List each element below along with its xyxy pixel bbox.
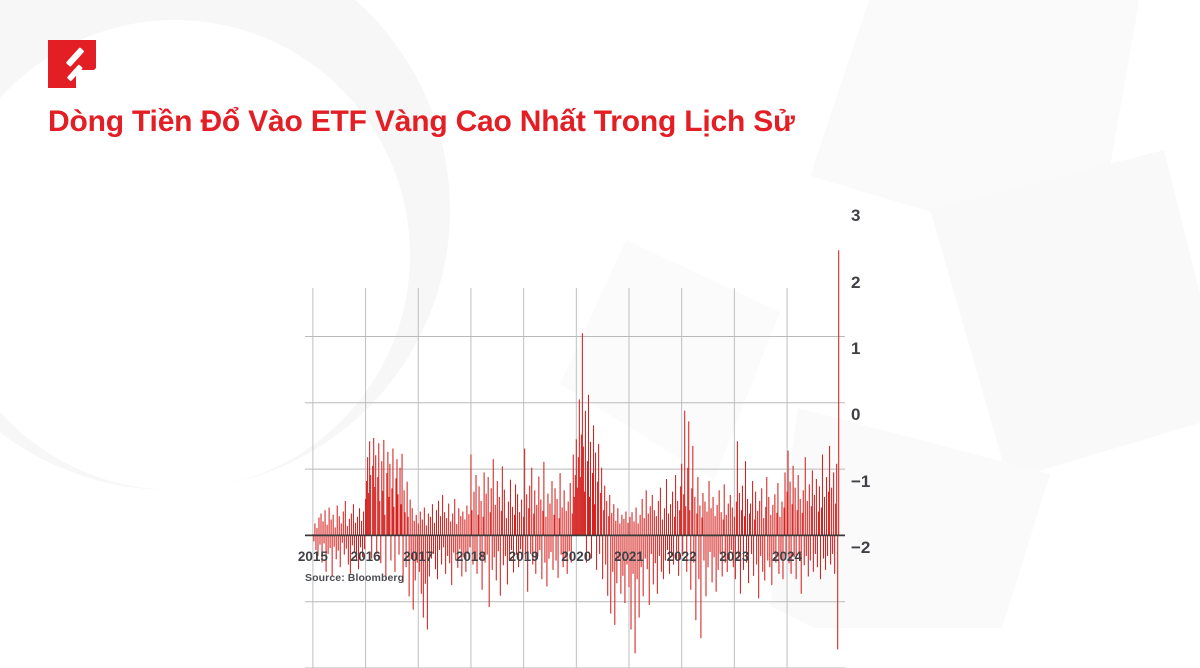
chart-bar <box>501 511 502 536</box>
chart-bar <box>564 490 565 535</box>
chart-bar <box>675 475 676 535</box>
chart-bar <box>646 490 647 535</box>
chart-bar <box>506 518 507 535</box>
chart-bar <box>819 486 820 535</box>
chart-bar <box>545 517 546 536</box>
chart-bar <box>670 504 671 535</box>
chart-bar <box>611 513 612 536</box>
chart-bar <box>741 510 742 535</box>
chart-bar <box>551 481 552 535</box>
chart-bar <box>824 497 825 535</box>
chart-bar <box>543 462 544 536</box>
chart-bar <box>364 535 365 549</box>
chart-bar <box>318 517 319 535</box>
chart-bar <box>777 483 778 535</box>
x-axis-tick-label: 2019 <box>509 549 539 564</box>
chart-bar <box>346 535 347 548</box>
chart-bar <box>379 501 380 535</box>
chart-bar <box>600 493 601 535</box>
chart-bar <box>391 488 392 535</box>
y-axis-tick-label: 3 <box>851 206 860 226</box>
chart-bar <box>627 523 628 536</box>
chart-bar <box>331 519 332 535</box>
chart-bar <box>458 508 459 535</box>
chart-bar <box>432 504 433 535</box>
chart-bar <box>439 535 440 550</box>
chart-bar <box>776 513 777 536</box>
chart-bar <box>542 511 543 536</box>
chart-bar <box>592 473 593 535</box>
chart-bar <box>598 444 599 536</box>
chart-bar <box>575 475 576 535</box>
chart-bar <box>822 454 823 535</box>
chart-bar <box>584 492 585 536</box>
chart-bar <box>330 535 331 548</box>
chart-bar <box>402 454 403 536</box>
chart-bar <box>470 454 471 535</box>
chart-bar <box>523 517 524 536</box>
chart-bar <box>490 512 491 535</box>
chart-bar <box>534 490 535 535</box>
chart-bar <box>448 504 449 536</box>
chart-bar <box>386 473 387 535</box>
chart-bar <box>811 506 812 535</box>
chart-bar <box>803 490 804 535</box>
chart-bar <box>372 466 373 536</box>
chart-bar <box>414 521 415 536</box>
chart-bar <box>337 506 338 536</box>
chart-bar <box>734 517 735 536</box>
chart-bar <box>632 512 633 535</box>
chart-bar <box>589 497 590 535</box>
chart-bar <box>443 535 444 547</box>
chart-bar <box>719 490 720 535</box>
chart-plot-area <box>305 180 845 548</box>
chart-bar <box>684 411 685 536</box>
chart-bar <box>765 507 766 536</box>
chart-bar <box>679 510 680 535</box>
chart-bar <box>383 440 384 535</box>
chart-bar <box>667 535 668 550</box>
chart-bar <box>323 521 324 535</box>
chart-bar <box>578 457 579 535</box>
chart-bar <box>420 512 421 536</box>
chart-bar <box>770 515 771 536</box>
chart-bar <box>426 525 427 535</box>
chart-bar <box>724 484 725 535</box>
chart-bar <box>519 512 520 535</box>
chart-bar <box>341 523 342 535</box>
chart-bar <box>783 508 784 536</box>
chart-bar <box>826 477 827 535</box>
chart-bar <box>687 468 688 536</box>
chart-bar <box>514 515 515 536</box>
chart-bar <box>787 492 788 536</box>
y-axis-tick-label: 1 <box>851 339 860 359</box>
chart-bar <box>594 504 595 535</box>
chart-bar <box>604 486 605 536</box>
chart-bar <box>452 514 453 536</box>
chart-bar <box>816 479 817 535</box>
chart-bar <box>582 333 583 535</box>
chart-bar <box>784 472 785 535</box>
chart-bar <box>423 535 424 617</box>
chart-bar <box>366 481 367 535</box>
chart-bar <box>512 507 513 536</box>
chart-bar <box>809 484 810 535</box>
chart-bar <box>491 488 492 535</box>
chart-bar <box>802 513 803 536</box>
chart-bar <box>688 421 689 535</box>
chart-bar <box>685 506 686 535</box>
chart-bar <box>471 510 472 535</box>
chart-bar <box>401 504 402 535</box>
chart-bar <box>781 502 782 536</box>
chart-bar <box>761 488 762 535</box>
chart-bar <box>728 504 729 536</box>
chart-bar <box>459 535 460 549</box>
chart-source-note: Source: Bloomberg <box>305 572 404 584</box>
chart-bar <box>717 505 718 536</box>
chart-bar <box>798 475 799 535</box>
chart-bar <box>343 512 344 536</box>
chart-bar <box>369 441 370 535</box>
chart-bar <box>508 502 509 536</box>
chart-bar <box>488 477 489 535</box>
chart-bar <box>389 464 390 536</box>
chart-bar <box>466 506 467 536</box>
chart-bar <box>393 507 394 536</box>
x-axis-labels: 2015201620172018201920202021202220232024 <box>280 549 880 571</box>
chart-bar <box>549 504 550 536</box>
chart-bar <box>792 504 793 535</box>
chart-bar <box>553 515 554 536</box>
chart-bar <box>668 514 669 536</box>
chart-bar <box>664 508 665 535</box>
chart-bar <box>416 515 417 536</box>
chart-bar <box>814 495 815 535</box>
chart-bar <box>408 517 409 536</box>
chart-bar <box>357 517 358 536</box>
chart-bar <box>521 500 522 536</box>
chart-bar <box>339 516 340 535</box>
x-axis-tick-label: 2017 <box>403 549 433 564</box>
chart-bar <box>680 486 681 535</box>
chart-bar <box>617 508 618 535</box>
chart-bar <box>315 535 316 550</box>
chart-bar <box>736 502 737 536</box>
chart-bar <box>361 521 362 536</box>
chart-bar <box>440 516 441 535</box>
chart-bar <box>515 484 516 535</box>
x-axis-tick-label: 2018 <box>456 549 486 564</box>
flows-bar-chart <box>305 180 845 548</box>
chart-bar <box>795 488 796 536</box>
chart-bar <box>375 455 376 535</box>
chart-bar <box>475 475 476 535</box>
chart-bar <box>572 514 573 536</box>
chart-bar <box>481 501 482 535</box>
chart-bar <box>495 505 496 536</box>
chart-bar <box>489 535 490 607</box>
chart-bar <box>320 514 321 536</box>
chart-bar <box>444 512 445 535</box>
chart-bar <box>422 519 423 535</box>
chart-bar <box>418 523 419 535</box>
chart-bar <box>723 519 724 535</box>
chart-bar <box>334 535 335 546</box>
chart-bar <box>793 466 794 536</box>
chart-bar <box>709 481 710 535</box>
chart-bar <box>493 459 494 535</box>
chart-bar <box>388 497 389 535</box>
chart-bar <box>529 486 530 536</box>
chart-bar <box>566 511 567 536</box>
chart-bar <box>750 504 751 536</box>
chart-bar <box>654 510 655 535</box>
chart-bar <box>821 508 822 536</box>
chart-bar <box>397 494 398 535</box>
chart-bar <box>520 535 521 549</box>
chart-bar <box>502 466 503 535</box>
y-axis-tick-label: 2 <box>851 273 860 293</box>
chart-bar <box>704 502 705 536</box>
chart-bar <box>365 499 366 535</box>
chart-bar <box>692 446 693 536</box>
chart-bar <box>677 501 678 535</box>
chart-bar <box>359 508 360 535</box>
chart-bar <box>413 535 414 609</box>
chart-bar <box>788 451 789 536</box>
chart-bar <box>779 517 780 536</box>
y-axis-labels: 3210−1−2 <box>851 180 901 548</box>
chart-bar <box>568 502 569 536</box>
chart-bar <box>407 482 408 536</box>
chart-bar <box>384 515 385 536</box>
chart-bar <box>662 519 663 535</box>
chart-bar <box>430 517 431 536</box>
chart-bar <box>368 493 369 535</box>
chart-bar <box>352 535 353 545</box>
chart-bar <box>745 461 746 535</box>
chart-bar <box>580 477 581 535</box>
chart-bar <box>697 477 698 535</box>
chart-bar <box>478 515 479 536</box>
chart-bar <box>345 501 346 535</box>
chart-bar <box>367 457 368 535</box>
x-axis-tick-label: 2022 <box>667 549 697 564</box>
chart-bar <box>609 495 610 535</box>
y-axis-tick-label: 0 <box>851 405 860 425</box>
chart-bar <box>590 442 591 535</box>
chart-bar <box>732 508 733 536</box>
chart-bar <box>576 439 577 535</box>
chart-bar <box>701 517 702 535</box>
chart-bar <box>370 475 371 535</box>
chart-bar <box>378 443 379 535</box>
chart-bar <box>464 519 465 535</box>
chart-bar <box>460 516 461 535</box>
chart-bar <box>531 468 532 536</box>
chart-bar <box>660 488 661 536</box>
chart-bar <box>625 512 626 536</box>
chart-bar <box>638 523 639 535</box>
chart-bar <box>588 395 589 536</box>
chart-bar <box>715 516 716 535</box>
chart-bar <box>694 497 695 535</box>
edit-square-logo-icon <box>48 40 96 88</box>
chart-bar <box>812 470 813 535</box>
chart-bar <box>831 488 832 536</box>
chart-bar <box>573 454 574 535</box>
chart-bar <box>360 535 361 547</box>
chart-bar <box>774 494 775 535</box>
chart-bar <box>650 506 651 535</box>
chart-bar <box>726 515 727 536</box>
chart-bar <box>648 514 649 536</box>
chart-bar <box>557 499 558 535</box>
chart-bar <box>442 495 443 535</box>
chart-bar <box>835 504 836 536</box>
chart-bar <box>744 516 745 535</box>
chart-bar <box>486 494 487 536</box>
chart-bar <box>574 497 575 535</box>
x-axis-tick-label: 2021 <box>614 549 644 564</box>
chart-bar <box>436 510 437 535</box>
chart-bar <box>374 487 375 535</box>
chart-bar <box>517 494 518 535</box>
chart-bar <box>747 499 748 535</box>
chart-bar <box>562 508 563 536</box>
chart-bar <box>828 492 829 536</box>
chart-bar <box>497 481 498 535</box>
chart-bar <box>438 501 439 535</box>
chart-bar <box>597 482 598 536</box>
chart-bar <box>319 535 320 544</box>
chart-bar <box>377 477 378 535</box>
chart-bar <box>636 508 637 536</box>
x-axis-tick-label: 2020 <box>561 549 591 564</box>
chart-bar <box>601 468 602 536</box>
chart-bar <box>689 510 690 535</box>
chart-bar <box>833 472 834 535</box>
chart-bar <box>706 512 707 536</box>
chart-bar <box>387 452 388 536</box>
chart-bar <box>410 500 411 536</box>
chart-bar <box>683 494 684 535</box>
chart-bar <box>456 524 457 535</box>
chart-bar <box>739 493 740 535</box>
chart-bar <box>428 514 429 536</box>
chart-bar <box>347 526 348 535</box>
chart-bar <box>392 449 393 536</box>
chart-bar <box>333 515 334 536</box>
chart-bar <box>524 449 525 536</box>
chart-bar <box>768 497 769 535</box>
chart-bar <box>587 461 588 535</box>
chart-bar <box>528 508 529 535</box>
chart-bar <box>836 464 837 536</box>
chart-bar <box>355 523 356 536</box>
chart-bar <box>818 512 819 536</box>
chart-bar <box>642 499 643 535</box>
chart-bar <box>772 505 773 536</box>
chart-bar <box>674 517 675 536</box>
chart-bar <box>752 481 753 535</box>
chart-bar <box>790 482 791 536</box>
chart-bar <box>805 457 806 535</box>
chart-bar <box>593 425 594 535</box>
chart-bar <box>608 516 609 535</box>
chart-bar <box>504 490 505 536</box>
chart-bar <box>499 497 500 535</box>
y-axis-tick-label: −1 <box>851 472 870 492</box>
chart-bar <box>696 514 697 536</box>
chart-bar <box>335 527 336 535</box>
chart-bar <box>800 499 801 535</box>
chart-bar <box>603 510 604 535</box>
chart-bar <box>479 486 480 535</box>
chart-bar <box>619 523 620 535</box>
chart-bar <box>510 480 511 536</box>
chart-bar <box>327 525 328 536</box>
chart-bar <box>560 473 561 535</box>
chart-bar <box>349 519 350 536</box>
chart-bar <box>699 506 700 536</box>
chart-bar <box>606 501 607 535</box>
chart-bar <box>400 468 401 536</box>
chart-bar <box>759 501 760 535</box>
x-axis-tick-label: 2024 <box>772 549 802 564</box>
chart-bar <box>585 411 586 536</box>
chart-bar <box>468 514 469 535</box>
chart-bar <box>754 519 755 535</box>
chart-bar <box>539 535 540 550</box>
chart-bar <box>595 453 596 536</box>
chart-bar <box>547 494 548 536</box>
chart-bar <box>424 508 425 536</box>
watermark-shape-b <box>930 150 1200 480</box>
chart-bar <box>351 514 352 536</box>
chart-bar <box>511 535 512 550</box>
chart-bar <box>731 535 732 550</box>
chart-bar <box>342 535 343 542</box>
chart-bar <box>434 523 435 536</box>
chart-bar <box>737 441 738 535</box>
chart-bar <box>570 483 571 535</box>
chart-bar <box>555 488 556 535</box>
chart-bar <box>755 492 756 536</box>
x-axis-tick-label: 2023 <box>719 549 749 564</box>
chart-bar <box>730 495 731 535</box>
chart-bar <box>316 528 317 535</box>
chart-bar <box>621 515 622 536</box>
chart-bar <box>450 521 451 535</box>
chart-bar <box>702 493 703 535</box>
chart-bar <box>579 399 580 535</box>
chart-bar <box>640 515 641 536</box>
chart-bar <box>382 491 383 535</box>
chart-bar <box>713 497 714 535</box>
chart-bar <box>483 517 484 536</box>
chart-bar <box>396 459 397 535</box>
chart-bar <box>353 504 354 535</box>
chart-bar <box>484 472 485 535</box>
chart-bar <box>538 476 539 535</box>
chart-bar <box>797 510 798 535</box>
chart-bar <box>656 516 657 535</box>
chart-bar <box>329 508 330 536</box>
